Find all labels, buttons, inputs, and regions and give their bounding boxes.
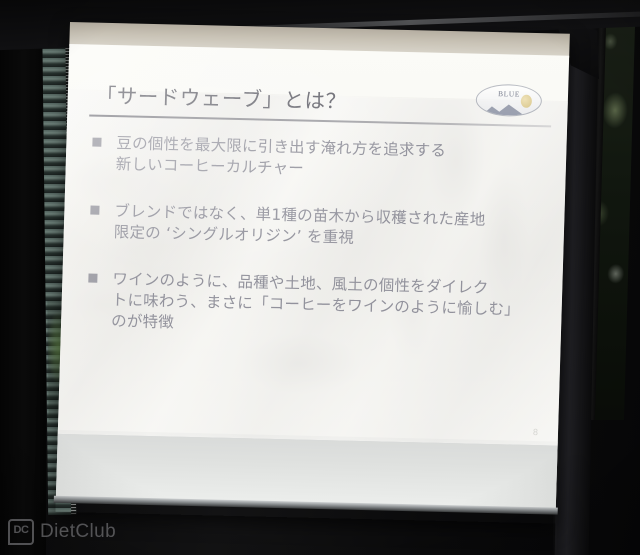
bullet-text: ワインのように、品種や土地、風土の個性をダイレク トに味わう、まさに「コーヒーを… bbox=[111, 269, 551, 342]
sun-icon bbox=[521, 95, 532, 108]
watermark-text: DietClub bbox=[40, 521, 116, 543]
logo-wordmark: BLUE bbox=[477, 89, 541, 100]
watermark: DC DietClub bbox=[8, 519, 116, 545]
list-item: ワインのように、品種や土地、風土の個性をダイレク トに味わう、まさに「コーヒーを… bbox=[79, 268, 551, 342]
square-bullet-icon bbox=[88, 274, 97, 283]
bullet-text: ブレンドではなく、単1種の苗木から収穫された産地 限定の ‘シングルオリジン’ … bbox=[113, 201, 552, 253]
projection-screen: 「サードウェーブ」とは？ BLUE 豆の個性を最大限に引き出す淹れ方を追求する … bbox=[55, 22, 569, 524]
watermark-badge: DC bbox=[8, 519, 34, 545]
slide-page-number: 8 bbox=[533, 427, 538, 437]
square-bullet-icon bbox=[92, 138, 101, 147]
bullet-text: 豆の個性を最大限に引き出す淹れ方を追求する 新しいコーヒーカルチャー bbox=[115, 133, 554, 185]
projected-slide: 「サードウェーブ」とは？ BLUE 豆の個性を最大限に引き出す淹れ方を追求する … bbox=[58, 44, 569, 446]
square-bullet-icon bbox=[90, 206, 99, 215]
list-item: ブレンドではなく、単1種の苗木から収穫された産地 限定の ‘シングルオリジン’ … bbox=[81, 200, 552, 253]
slide-title: 「サードウェーブ」とは？ bbox=[95, 79, 347, 115]
slide-bullet-list: 豆の個性を最大限に引き出す淹れ方を追求する 新しいコーヒーカルチャー ブレンドで… bbox=[78, 132, 555, 368]
mountain-icon bbox=[482, 102, 524, 116]
presentation-screen-photo: 「サードウェーブ」とは？ BLUE 豆の個性を最大限に引き出す淹れ方を追求する … bbox=[0, 0, 640, 555]
left-wall bbox=[0, 0, 46, 555]
